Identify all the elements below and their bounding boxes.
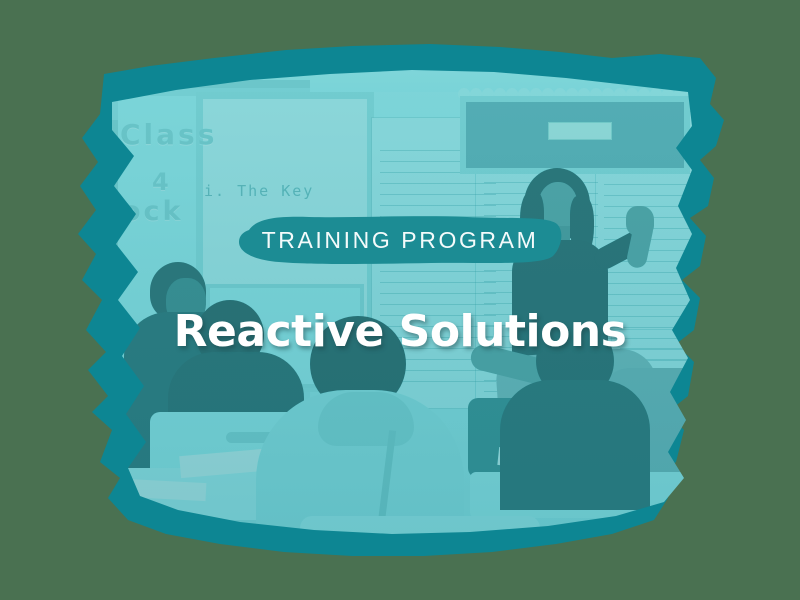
hero-banner: Class 4 ock i. The Key <box>0 0 800 600</box>
brush-stroke-frame: Class 4 ock i. The Key <box>0 0 800 600</box>
